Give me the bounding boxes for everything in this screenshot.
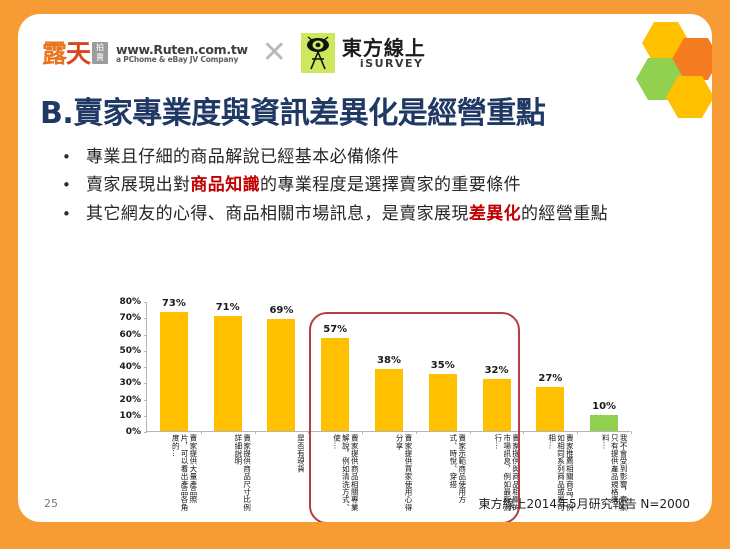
y-axis-tick-label: 40% (119, 362, 141, 372)
chart-bar-rect (483, 379, 511, 431)
y-axis-tick-label: 60% (119, 330, 141, 340)
list-item: • 專業且仔細的商品解說已經基本必備條件 (62, 147, 702, 168)
ruten-url-block: www.Ruten.com.tw a PChome & eBay JV Comp… (116, 43, 248, 64)
x-axis-tick (631, 431, 632, 434)
chart-bar-value-label: 27% (538, 373, 562, 384)
bullet-text-post: 的專業程度是選擇賣家的重要條件 (260, 175, 521, 195)
chart-bar: 57% (321, 301, 349, 431)
slide-canvas: 露天拍賣 www.Ruten.com.tw a PChome & eBay JV… (18, 14, 712, 522)
list-item: • 賣家展現出對商品知識的專業程度是選擇賣家的重要條件 (62, 175, 702, 196)
chart-bar-rect (214, 316, 242, 431)
chart-bar: 69% (267, 301, 295, 431)
ruten-url-text: www.Ruten.com.tw (116, 43, 248, 56)
y-axis-tick (144, 400, 147, 401)
chart-bar: 27% (536, 301, 564, 431)
bullet-marker: • (62, 150, 86, 165)
isurvey-text-block: 東方線上 iSURVEY (342, 38, 426, 69)
chart-bar-value-label: 32% (485, 365, 509, 376)
y-axis-tick (144, 416, 147, 417)
chart-bar-rect (429, 374, 457, 431)
y-axis-tick-label: 70% (119, 313, 141, 323)
ruten-logo-char-1: 露 (42, 41, 66, 66)
chart-bar-value-label: 73% (162, 298, 186, 309)
chart-bar-rect (590, 415, 618, 431)
bullet-text-pre: 其它網友的心得、商品相關市場訊息，是賣家展現 (86, 204, 469, 224)
chart-bar-value-label: 38% (377, 355, 401, 366)
bullet-text: 專業且仔細的商品解說已經基本必備條件 (86, 147, 399, 168)
y-axis-tick-label: 20% (119, 395, 141, 405)
source-note: 東方線上2014年5月研究報告 N=2000 (478, 495, 690, 512)
x-axis-category-label: 賣家提供商品相關專業解說，例如清洗方式、使… (310, 434, 358, 514)
chart-bar-rect (267, 319, 295, 431)
y-axis-tick-label: 50% (119, 346, 141, 356)
x-axis-category-label: 賣家提供大量產品照片，可以看出產品各角度的… (149, 434, 197, 514)
bullet-text-pre: 專業且仔細的商品解說已經基本必備條件 (86, 147, 399, 167)
page-number: 25 (44, 497, 58, 510)
ruten-logo: 露天拍賣 www.Ruten.com.tw a PChome & eBay JV… (42, 36, 248, 70)
chart-bar: 10% (590, 301, 618, 431)
slide-frame: 露天拍賣 www.Ruten.com.tw a PChome & eBay JV… (0, 0, 730, 549)
y-axis-tick-label: 10% (119, 411, 141, 421)
chart-bar-value-label: 35% (431, 360, 455, 371)
x-axis-category-label: 賣家提供買家使用心得分享 (364, 434, 412, 514)
ruten-tagline: a PChome & eBay JV Company (116, 56, 248, 64)
x-axis-category-label: 賣家示範商品使用方式、時悅、穿搭 (418, 434, 466, 514)
y-axis-tick (144, 383, 147, 384)
y-axis-tick-label: 0% (126, 427, 141, 437)
ruten-logo-char-2: 天 (66, 41, 90, 66)
y-axis-tick-label: 30% (119, 378, 141, 388)
chart-bar: 38% (375, 301, 403, 431)
bullet-text: 其它網友的心得、商品相關市場訊息，是賣家展現差異化的經營重點 (86, 204, 608, 225)
x-axis-category-label: 賣家提供商品尺寸比例詳細說明 (203, 434, 251, 514)
bullet-marker: • (62, 178, 86, 193)
page-title: B.賣家專業度與資訊差異化是經營重點 (40, 88, 690, 132)
chart-bar: 73% (160, 301, 188, 431)
chart-bar-value-label: 69% (269, 305, 293, 316)
bullet-text-post: 的經營重點 (521, 204, 608, 224)
chart-bar-rect (375, 369, 403, 431)
chart-plot-area: 73%71%69%57%38%35%32%27%10% (146, 302, 630, 432)
chart-bar: 32% (483, 301, 511, 431)
cross-separator-icon: ✕ (262, 38, 287, 68)
x-axis-category-label: 是否有現貨 (256, 434, 304, 514)
bullet-text-highlight: 差異化 (469, 204, 521, 224)
chart-bar-rect (536, 387, 564, 431)
isurvey-latin-name: iSURVEY (360, 58, 426, 69)
y-axis-tick (144, 351, 147, 352)
list-item: • 其它網友的心得、商品相關市場訊息，是賣家展現差異化的經營重點 (62, 204, 702, 225)
chart-bar: 35% (429, 301, 457, 431)
isurvey-logo: 東方線上 iSURVEY (301, 33, 426, 73)
bullet-text-highlight: 商品知識 (190, 175, 260, 195)
chart-bar-value-label: 71% (216, 302, 240, 313)
chart-bar-value-label: 10% (592, 401, 616, 412)
bullet-marker: • (62, 207, 86, 222)
isurvey-cjk-name: 東方線上 (342, 38, 426, 58)
ruten-logo-badge: 拍賣 (92, 42, 108, 64)
y-axis-tick-label: 80% (119, 297, 141, 307)
chart-bar: 71% (214, 301, 242, 431)
bullet-text-pre: 賣家展現出對 (86, 175, 190, 195)
bar-chart: 80%70%60%50%40%30%20%10%0% 73%71%69%57%3… (110, 302, 630, 517)
bullet-text: 賣家展現出對商品知識的專業程度是選擇賣家的重要條件 (86, 175, 521, 196)
y-axis-tick (144, 432, 147, 433)
chart-bar-rect (160, 312, 188, 431)
isurvey-eye-icon (301, 33, 335, 73)
y-axis-tick (144, 367, 147, 368)
y-axis-tick (144, 302, 147, 303)
chart-bar-rect (321, 338, 349, 431)
y-axis-tick (144, 335, 147, 336)
bullet-list: • 專業且仔細的商品解說已經基本必備條件 • 賣家展現出對商品知識的專業程度是選… (62, 147, 702, 232)
header-logos: 露天拍賣 www.Ruten.com.tw a PChome & eBay JV… (42, 28, 426, 78)
chart-bar-value-label: 57% (323, 324, 347, 335)
y-axis-tick (144, 318, 147, 319)
chart-y-axis: 80%70%60%50%40%30%20%10%0% (110, 302, 144, 432)
